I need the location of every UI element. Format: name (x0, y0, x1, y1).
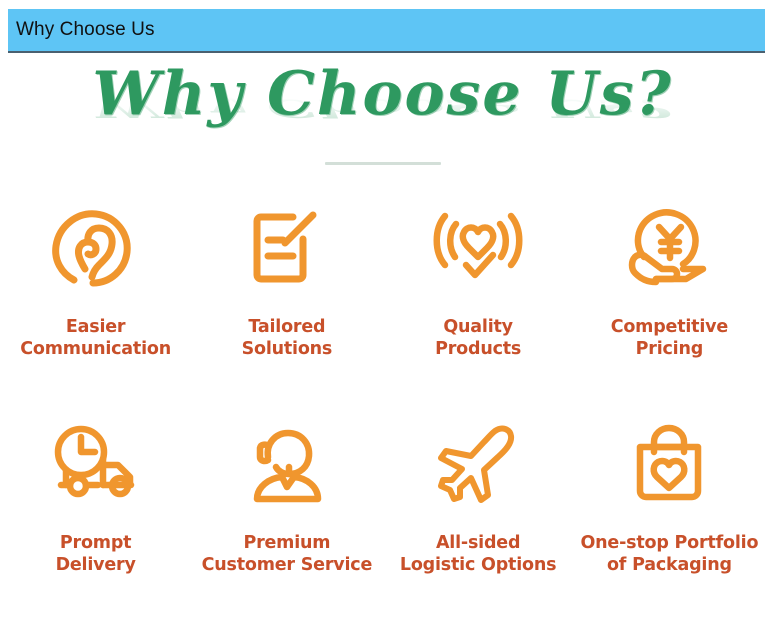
feature-label: Easier Communication (20, 316, 171, 361)
feature-label: One-stop Portfolio of Packaging (580, 532, 758, 577)
truck-clock-icon (46, 415, 146, 515)
feature-label: Premium Customer Service (202, 532, 372, 577)
slide-heading-block: Why Choose Us? Why Choose Us? (0, 63, 765, 163)
feature-label: Tailored Solutions (242, 316, 333, 361)
feature-item-premium-customer-service[interactable]: Premium Customer Service (191, 409, 382, 625)
heart-signal-check-icon (428, 199, 528, 299)
ear-in-circle-icon (46, 199, 146, 299)
document-pencil-icon (237, 199, 337, 299)
feature-label: Quality Products (435, 316, 521, 361)
feature-item-prompt-delivery[interactable]: Prompt Delivery (0, 409, 191, 625)
feature-grid: Easier Communication Tailored Solutions (0, 193, 765, 625)
airplane-icon (428, 415, 528, 515)
heading-divider (325, 162, 441, 165)
feature-item-easier-communication[interactable]: Easier Communication (0, 193, 191, 409)
feature-label: Competitive Pricing (611, 316, 728, 361)
window-title-bar: Why Choose Us (8, 9, 765, 53)
feature-item-quality-products[interactable]: Quality Products (383, 193, 574, 409)
hand-yen-coin-icon (619, 199, 719, 299)
feature-label: All-sided Logistic Options (400, 532, 556, 577)
window-title: Why Choose Us (8, 19, 155, 41)
shopping-bag-heart-icon (619, 415, 719, 515)
page-title: Why Choose Us? (92, 63, 672, 126)
feature-item-tailored-solutions[interactable]: Tailored Solutions (191, 193, 382, 409)
feature-item-one-stop-portfolio-of-packaging[interactable]: One-stop Portfolio of Packaging (574, 409, 765, 625)
slide-canvas: Why Choose Us? Why Choose Us? Easier Com… (0, 55, 765, 599)
headset-agent-icon (237, 415, 337, 515)
feature-label: Prompt Delivery (56, 532, 136, 577)
feature-item-competitive-pricing[interactable]: Competitive Pricing (574, 193, 765, 409)
feature-item-all-sided-logistic-options[interactable]: All-sided Logistic Options (383, 409, 574, 625)
heading-art: Why Choose Us? Why Choose Us? (92, 63, 672, 126)
